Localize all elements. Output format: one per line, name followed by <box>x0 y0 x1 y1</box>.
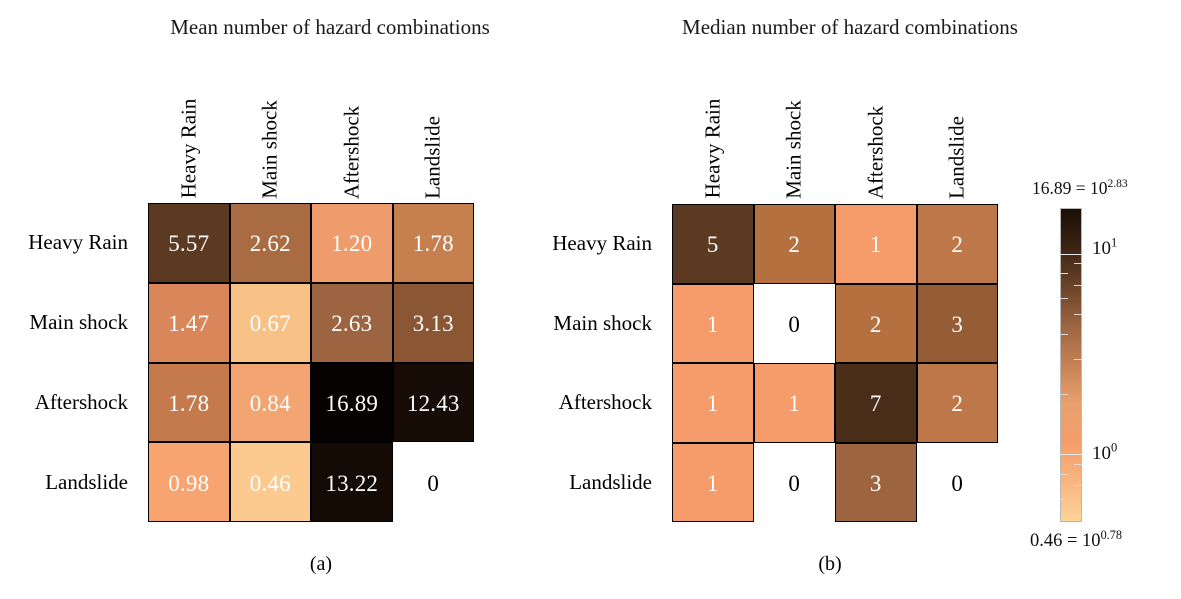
column-label-slot: Landslide <box>393 56 475 201</box>
heatmap-cell-value: 3.13 <box>413 312 454 335</box>
colorbar <box>1060 208 1082 522</box>
heatmap-cell-value: 1.47 <box>168 312 209 335</box>
colorbar-min-value: 0.46 = 10 <box>1030 531 1101 551</box>
colorbar-minor-tick <box>1060 334 1068 335</box>
heatmap-cell-value: 1.78 <box>168 392 209 415</box>
heatmap-cell-value: 1 <box>788 392 800 415</box>
heatmap-cell: 2.63 <box>311 283 393 363</box>
panel-a-column-labels: Heavy Rain Main shock Aftershock Landsli… <box>148 56 474 201</box>
colorbar-min-exponent: 0.78 <box>1101 528 1122 542</box>
heatmap-cell-value: 0 <box>788 313 800 336</box>
column-label-slot: Landslide <box>917 56 999 201</box>
colorbar-minor-tick <box>1060 298 1068 299</box>
heatmap-cell: 12.43 <box>393 363 475 443</box>
column-label: Heavy Rain <box>700 99 725 199</box>
heatmap-cell-value: 16.89 <box>325 392 378 415</box>
heatmap-cell: 3 <box>835 443 917 523</box>
column-label-slot: Main shock <box>230 56 312 201</box>
colorbar-max-value: 16.89 = 10 <box>1032 178 1108 198</box>
column-label: Main shock <box>782 100 807 199</box>
column-label-slot: Main shock <box>754 56 836 201</box>
panel-b-column-labels: Heavy Rain Main shock Aftershock Landsli… <box>672 56 998 201</box>
heatmap-cell-value: 2 <box>951 233 963 256</box>
heatmap-cell-value: 0.67 <box>250 312 291 335</box>
heatmap-cell-value: 13.22 <box>325 472 378 495</box>
heatmap-cell: 2 <box>917 363 999 443</box>
heatmap-cell: 2 <box>917 204 999 284</box>
heatmap-cell: 0.84 <box>230 363 312 443</box>
heatmap-cell-value: 2 <box>870 313 882 336</box>
heatmap-cell: 0.46 <box>230 442 312 522</box>
heatmap-cell: 1 <box>672 363 754 443</box>
panel-b-caption: (b) <box>750 552 910 576</box>
row-label: Landslide <box>0 442 138 522</box>
colorbar-major-tick <box>1060 454 1082 455</box>
panel-a-caption: (a) <box>241 552 401 576</box>
heatmap-cell-value: 3 <box>951 313 963 336</box>
heatmap-cell: 0 <box>754 443 836 523</box>
heatmap-cell-value: 0 <box>788 472 800 495</box>
panel-a-row-labels: Heavy Rain Main shock Aftershock Landsli… <box>0 203 138 522</box>
heatmap-cell-value: 12.43 <box>407 392 460 415</box>
colorbar-minor-tick <box>1074 285 1082 286</box>
heatmap-cell-value: 1 <box>707 313 719 336</box>
heatmap-cell-value: 1.20 <box>331 232 372 255</box>
heatmap-cell: 0.98 <box>148 442 230 522</box>
heatmap-cell: 5.57 <box>148 203 230 283</box>
heatmap-cell-value: 0 <box>951 472 963 495</box>
heatmap-cell: 0.67 <box>230 283 312 363</box>
row-label: Heavy Rain <box>0 203 138 283</box>
heatmap-cell-value: 0.98 <box>168 472 209 495</box>
heatmap-cell-value: 2.62 <box>250 232 291 255</box>
heatmap-cell-value: 1.78 <box>413 232 454 255</box>
colorbar-minor-tick <box>1074 515 1082 516</box>
heatmap-cell: 1.47 <box>148 283 230 363</box>
colorbar-minor-tick <box>1074 485 1082 486</box>
column-label: Aftershock <box>863 105 888 198</box>
colorbar-tick-label-10e1: 101 <box>1092 238 1117 260</box>
colorbar-minor-tick <box>1074 263 1082 264</box>
heatmap-cell: 0 <box>917 443 999 523</box>
heatmap-cell-value: 1 <box>707 392 719 415</box>
colorbar-tick-base: 10 <box>1092 443 1111 464</box>
heatmap-cell: 0 <box>393 442 475 522</box>
colorbar-tick-label-10e0: 100 <box>1092 443 1117 465</box>
column-label: Main shock <box>258 100 283 199</box>
heatmap-cell: 0 <box>754 284 836 364</box>
colorbar-minor-tick <box>1060 273 1068 274</box>
panel-b-row-labels: Heavy Rain Main shock Aftershock Landsli… <box>516 204 662 522</box>
panel-a-heatmap-grid: 5.572.621.201.781.470.672.633.131.780.84… <box>148 203 474 522</box>
heatmap-cell-value: 1 <box>870 233 882 256</box>
column-label-slot: Heavy Rain <box>672 56 754 201</box>
heatmap-cell: 7 <box>835 363 917 443</box>
column-label: Aftershock <box>339 105 364 198</box>
row-label: Aftershock <box>0 363 138 443</box>
column-label-slot: Aftershock <box>311 56 393 201</box>
row-label: Heavy Rain <box>516 204 662 284</box>
heatmap-cell-value: 2.63 <box>331 312 372 335</box>
colorbar-major-tick <box>1060 254 1082 255</box>
heatmap-cell: 1 <box>754 363 836 443</box>
heatmap-cell-value: 5.57 <box>168 232 209 255</box>
colorbar-minor-tick <box>1060 394 1068 395</box>
heatmap-cell: 5 <box>672 204 754 284</box>
column-label-slot: Aftershock <box>835 56 917 201</box>
colorbar-minor-tick <box>1074 314 1082 315</box>
heatmap-cell-value: 0.84 <box>250 392 291 415</box>
heatmap-cell-value: 5 <box>707 233 719 256</box>
heatmap-cell-value: 0.46 <box>250 472 291 495</box>
heatmap-cell: 16.89 <box>311 363 393 443</box>
heatmap-cell-value: 1 <box>707 472 719 495</box>
colorbar-minor-tick <box>1074 359 1082 360</box>
heatmap-cell: 1.20 <box>311 203 393 283</box>
column-label: Heavy Rain <box>176 99 201 199</box>
colorbar-tick-base: 10 <box>1092 238 1111 259</box>
heatmap-cell-value: 0 <box>427 472 439 495</box>
heatmap-cell-value: 3 <box>870 472 882 495</box>
colorbar-min-label: 0.46 = 100.78 <box>1030 531 1122 552</box>
row-label: Main shock <box>0 283 138 363</box>
colorbar-minor-tick <box>1060 499 1068 500</box>
heatmap-cell: 13.22 <box>311 442 393 522</box>
panel-b-heatmap-grid: 5212102311721030 <box>672 204 998 522</box>
heatmap-cell: 2 <box>754 204 836 284</box>
colorbar-tick-exponent: 1 <box>1111 236 1117 250</box>
heatmap-cell: 1 <box>672 443 754 523</box>
heatmap-cell: 1.78 <box>148 363 230 443</box>
heatmap-cell: 1 <box>835 204 917 284</box>
heatmap-cell: 1.78 <box>393 203 475 283</box>
row-label: Landslide <box>516 443 662 523</box>
heatmap-cell-value: 2 <box>788 233 800 256</box>
column-label-slot: Heavy Rain <box>148 56 230 201</box>
panel-b-title: Median number of hazard combinations <box>520 14 1180 40</box>
colorbar-tick-exponent: 0 <box>1111 441 1117 455</box>
colorbar-minor-tick <box>1074 464 1082 465</box>
heatmap-cell: 2 <box>835 284 917 364</box>
heatmap-cell-value: 2 <box>951 392 963 415</box>
colorbar-gradient <box>1060 208 1082 522</box>
heatmap-cell: 1 <box>672 284 754 364</box>
colorbar-max-label: 16.89 = 102.83 <box>1032 178 1128 199</box>
column-label: Landslide <box>421 116 446 199</box>
colorbar-max-exponent: 2.83 <box>1108 178 1128 190</box>
heatmap-cell: 3 <box>917 284 999 364</box>
figure-root: Mean number of hazard combinations Heavy… <box>0 0 1181 599</box>
heatmap-cell: 2.62 <box>230 203 312 283</box>
colorbar-minor-tick <box>1060 474 1068 475</box>
heatmap-cell: 3.13 <box>393 283 475 363</box>
row-label: Aftershock <box>516 363 662 443</box>
row-label: Main shock <box>516 284 662 364</box>
heatmap-cell-value: 7 <box>870 392 882 415</box>
column-label: Landslide <box>945 116 970 199</box>
